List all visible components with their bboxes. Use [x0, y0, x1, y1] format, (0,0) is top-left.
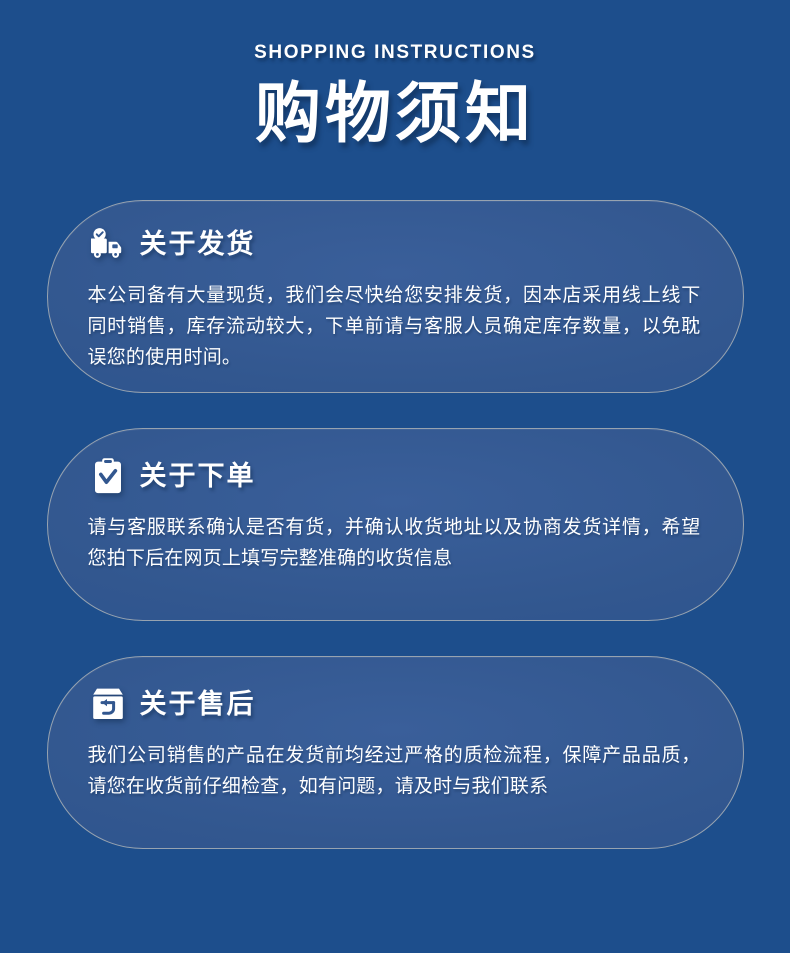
card-body-shipping: 本公司备有大量现货，我们会尽快给您安排发货，因本店采用线上线下同时销售，库存流动…	[88, 281, 701, 373]
card-title-shipping: 关于发货	[140, 231, 256, 258]
card-header-aftersale: 关于售后	[88, 681, 701, 727]
card-body-aftersale: 我们公司销售的产品在发货前均经过严格的质检流程，保障产品品质，请您在收货前仔细检…	[88, 741, 701, 803]
page-header: SHOPPING INSTRUCTIONS 购物须知	[0, 0, 790, 151]
card-title-order: 关于下单	[140, 463, 256, 490]
card-title-aftersale: 关于售后	[140, 691, 256, 718]
page-title: 购物须知	[0, 77, 790, 151]
shopping-instructions-page: SHOPPING INSTRUCTIONS 购物须知	[0, 0, 790, 953]
return-box-arrow-icon	[88, 684, 128, 724]
card-body-order: 请与客服联系确认是否有货，并确认收货地址以及协商发货详情，希望您拍下后在网页上填…	[88, 513, 701, 575]
clipboard-check-icon	[88, 456, 128, 496]
card-header-shipping: 关于发货	[88, 221, 701, 267]
instruction-card-shipping: 关于发货 本公司备有大量现货，我们会尽快给您安排发货，因本店采用线上线下同时销售…	[47, 200, 744, 393]
instruction-cards: 关于发货 本公司备有大量现货，我们会尽快给您安排发货，因本店采用线上线下同时销售…	[0, 200, 790, 884]
instruction-card-order: 关于下单 请与客服联系确认是否有货，并确认收货地址以及协商发货详情，希望您拍下后…	[47, 428, 744, 621]
card-header-order: 关于下单	[88, 453, 701, 499]
instruction-card-aftersale: 关于售后 我们公司销售的产品在发货前均经过严格的质检流程，保障产品品质，请您在收…	[47, 656, 744, 849]
page-eyebrow: SHOPPING INSTRUCTIONS	[0, 42, 790, 65]
delivery-truck-check-icon	[88, 224, 128, 264]
